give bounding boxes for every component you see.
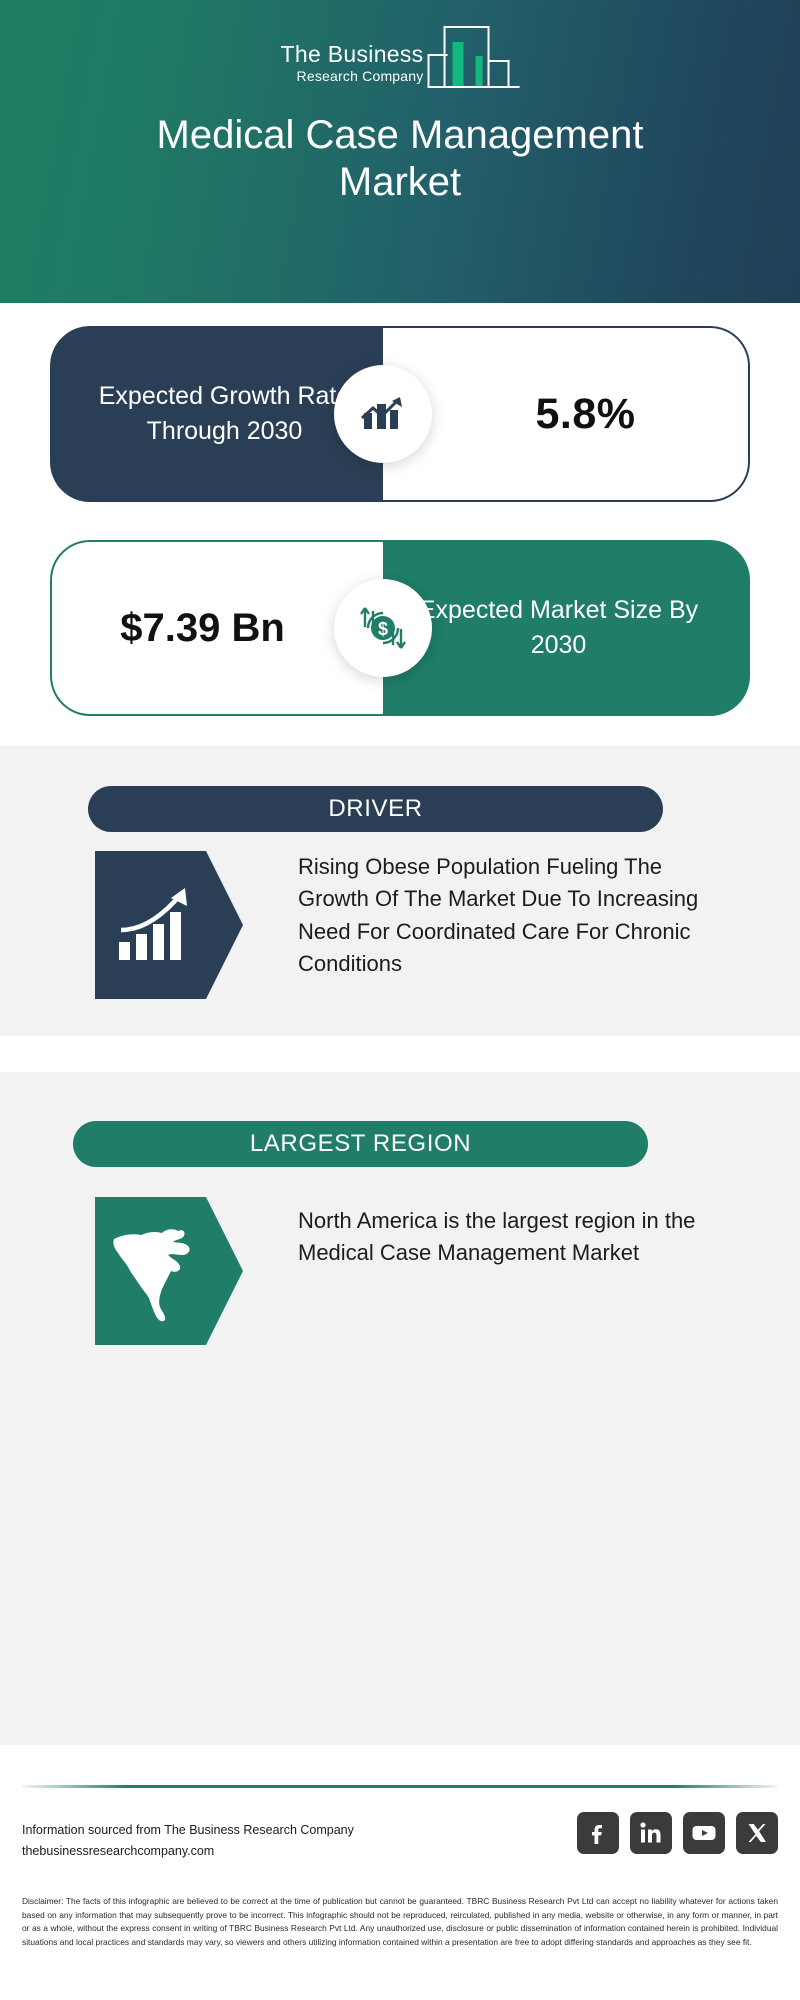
- largest-region-body-text: North America is the largest region in t…: [298, 1205, 718, 1270]
- stat-market-size-label-panel: Expected Market Size By 2030: [383, 540, 750, 716]
- source-line-2: thebusinessresearchcompany.com: [22, 1841, 452, 1862]
- driver-pill-label: DRIVER: [88, 786, 663, 832]
- north-america-map-icon: [95, 1197, 243, 1345]
- social-links: [577, 1812, 778, 1854]
- driver-body-text: Rising Obese Population Fueling The Grow…: [298, 851, 718, 980]
- logo-line-1: The Business: [281, 42, 424, 66]
- source-info: Information sourced from The Business Re…: [22, 1820, 452, 1861]
- driver-panel: DRIVER Rising Obese Population Fueling T…: [0, 746, 800, 1036]
- facebook-icon[interactable]: [577, 1812, 619, 1854]
- logo-bar-chart-icon: [427, 26, 519, 88]
- stat-growth-rate-value: 5.8%: [495, 390, 635, 439]
- disclaimer-text: Disclaimer: The facts of this infographi…: [22, 1895, 778, 1949]
- source-line-1: Information sourced from The Business Re…: [22, 1820, 452, 1841]
- bar-chart-arrow-icon: [95, 851, 243, 999]
- svg-text:$: $: [378, 619, 388, 639]
- stat-growth-rate-value-panel: 5.8%: [383, 326, 750, 502]
- stat-card-market-size: $7.39 Bn Expected Market Size By 2030 $: [0, 540, 800, 726]
- page-title: Medical Case Management Market: [0, 112, 800, 206]
- largest-region-pill-label: LARGEST REGION: [73, 1121, 648, 1167]
- largest-region-panel: LARGEST REGION North America is the larg…: [0, 1072, 800, 1745]
- stat-market-size-value: $7.39 Bn: [120, 602, 315, 654]
- header-banner: The Business Research Company Medical Ca…: [0, 0, 800, 303]
- stat-card-growth-rate: Expected Growth Rate Through 2030 5.8%: [0, 326, 800, 512]
- logo-text: The Business Research Company: [281, 42, 424, 88]
- company-logo: The Business Research Company: [281, 26, 520, 88]
- logo-line-2: Research Company: [281, 68, 424, 84]
- linkedin-icon[interactable]: [630, 1812, 672, 1854]
- x-twitter-icon[interactable]: [736, 1812, 778, 1854]
- stat-market-size-label: Expected Market Size By 2030: [383, 593, 750, 664]
- dollar-refresh-icon: $: [334, 579, 432, 677]
- bar-chart-growth-icon: [334, 365, 432, 463]
- youtube-icon[interactable]: [683, 1812, 725, 1854]
- footer-divider: [22, 1785, 778, 1788]
